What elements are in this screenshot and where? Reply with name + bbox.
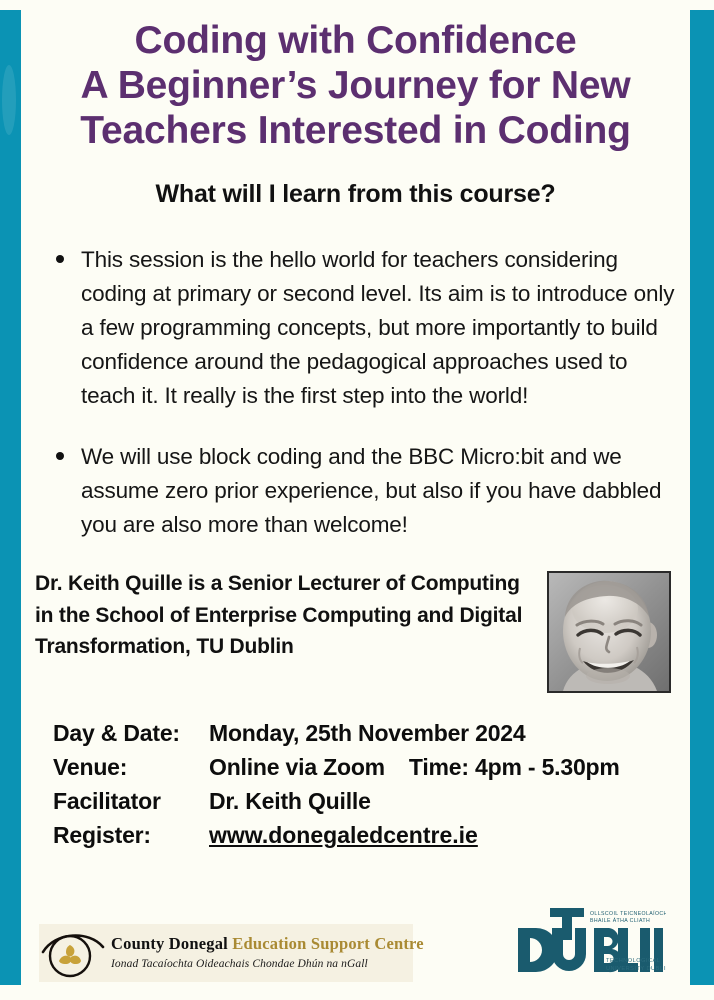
detail-time: Time: 4pm - 5.30pm — [409, 750, 620, 784]
register-link[interactable]: www.donegaledcentre.ie — [209, 818, 478, 852]
detail-row-register: Register: www.donegaledcentre.ie — [53, 818, 690, 852]
detail-value: Monday, 25th November 2024 — [209, 716, 526, 750]
eye-circle-triskele-icon — [39, 925, 109, 981]
list-item: We will use block coding and the BBC Mic… — [39, 440, 678, 543]
donegal-name-irish: Ionad Tacaíochta Oideachais Chondae Dhún… — [111, 958, 424, 970]
bullet-dot-icon — [56, 255, 64, 263]
detail-label: Register: — [53, 818, 209, 852]
speaker-bio: Dr. Keith Quille is a Senior Lecturer of… — [21, 568, 690, 698]
donegal-name-black: County Donegal — [111, 934, 232, 953]
donegal-esc-text: County Donegal Education Support Centre … — [109, 936, 424, 970]
poster-content: Coding with Confidence A Beginner’s Jour… — [21, 0, 690, 1000]
tu-dublin-logo: OLLSCOIL TEICNEOLAÍOCHTA BHAILE ÁTHA CLI… — [514, 906, 666, 978]
tud-english-line-1: TECHNOLOGICAL — [606, 958, 660, 964]
event-details: Day & Date: Monday, 25th November 2024 V… — [21, 716, 690, 852]
speaker-photo — [547, 571, 671, 693]
detail-row-venue: Venue: Online via Zoom Time: 4pm - 5.30p… — [53, 750, 690, 784]
tud-irish-line-1: OLLSCOIL TEICNEOLAÍOCHTA — [590, 910, 666, 917]
list-item-text: We will use block coding and the BBC Mic… — [81, 444, 661, 537]
bullet-dot-icon — [56, 452, 64, 460]
border-artifact — [2, 65, 16, 135]
detail-row-day-date: Day & Date: Monday, 25th November 2024 — [53, 716, 690, 750]
list-item: This session is the hello world for teac… — [39, 243, 678, 414]
footer-logos: County Donegal Education Support Centre … — [21, 890, 690, 1000]
portrait-icon — [549, 573, 669, 691]
title-line-1: Coding with Confidence — [21, 18, 690, 63]
page-title: Coding with Confidence A Beginner’s Jour… — [21, 0, 690, 154]
detail-label: Day & Date: — [53, 716, 209, 750]
detail-value: Dr. Keith Quille — [209, 784, 371, 818]
speaker-bio-text: Dr. Keith Quille is a Senior Lecturer of… — [35, 568, 540, 663]
left-teal-border — [0, 10, 21, 985]
tud-irish-line-2: BHAILE ÁTHA CLIATH — [590, 917, 650, 924]
bullet-list: This session is the hello world for teac… — [21, 243, 690, 543]
list-item-text: This session is the hello world for teac… — [81, 247, 674, 409]
tu-dublin-wordmark-icon: OLLSCOIL TEICNEOLAÍOCHTA BHAILE ÁTHA CLI… — [514, 906, 666, 978]
poster: Coding with Confidence A Beginner’s Jour… — [0, 0, 714, 1000]
title-line-3: Teachers Interested in Coding — [21, 108, 690, 153]
donegal-esc-logo: County Donegal Education Support Centre … — [39, 924, 413, 982]
tud-english-line-2: UNIVERSITY DUBLIN — [606, 966, 666, 972]
donegal-name-gold: Education Support Centre — [232, 934, 424, 953]
right-teal-border — [690, 10, 714, 985]
subheading: What will I learn from this course? — [21, 180, 690, 209]
detail-label: Facilitator — [53, 784, 209, 818]
title-line-2: A Beginner’s Journey for New — [21, 63, 690, 108]
detail-label: Venue: — [53, 750, 209, 784]
detail-row-facilitator: Facilitator Dr. Keith Quille — [53, 784, 690, 818]
detail-value: Online via Zoom — [209, 750, 385, 784]
